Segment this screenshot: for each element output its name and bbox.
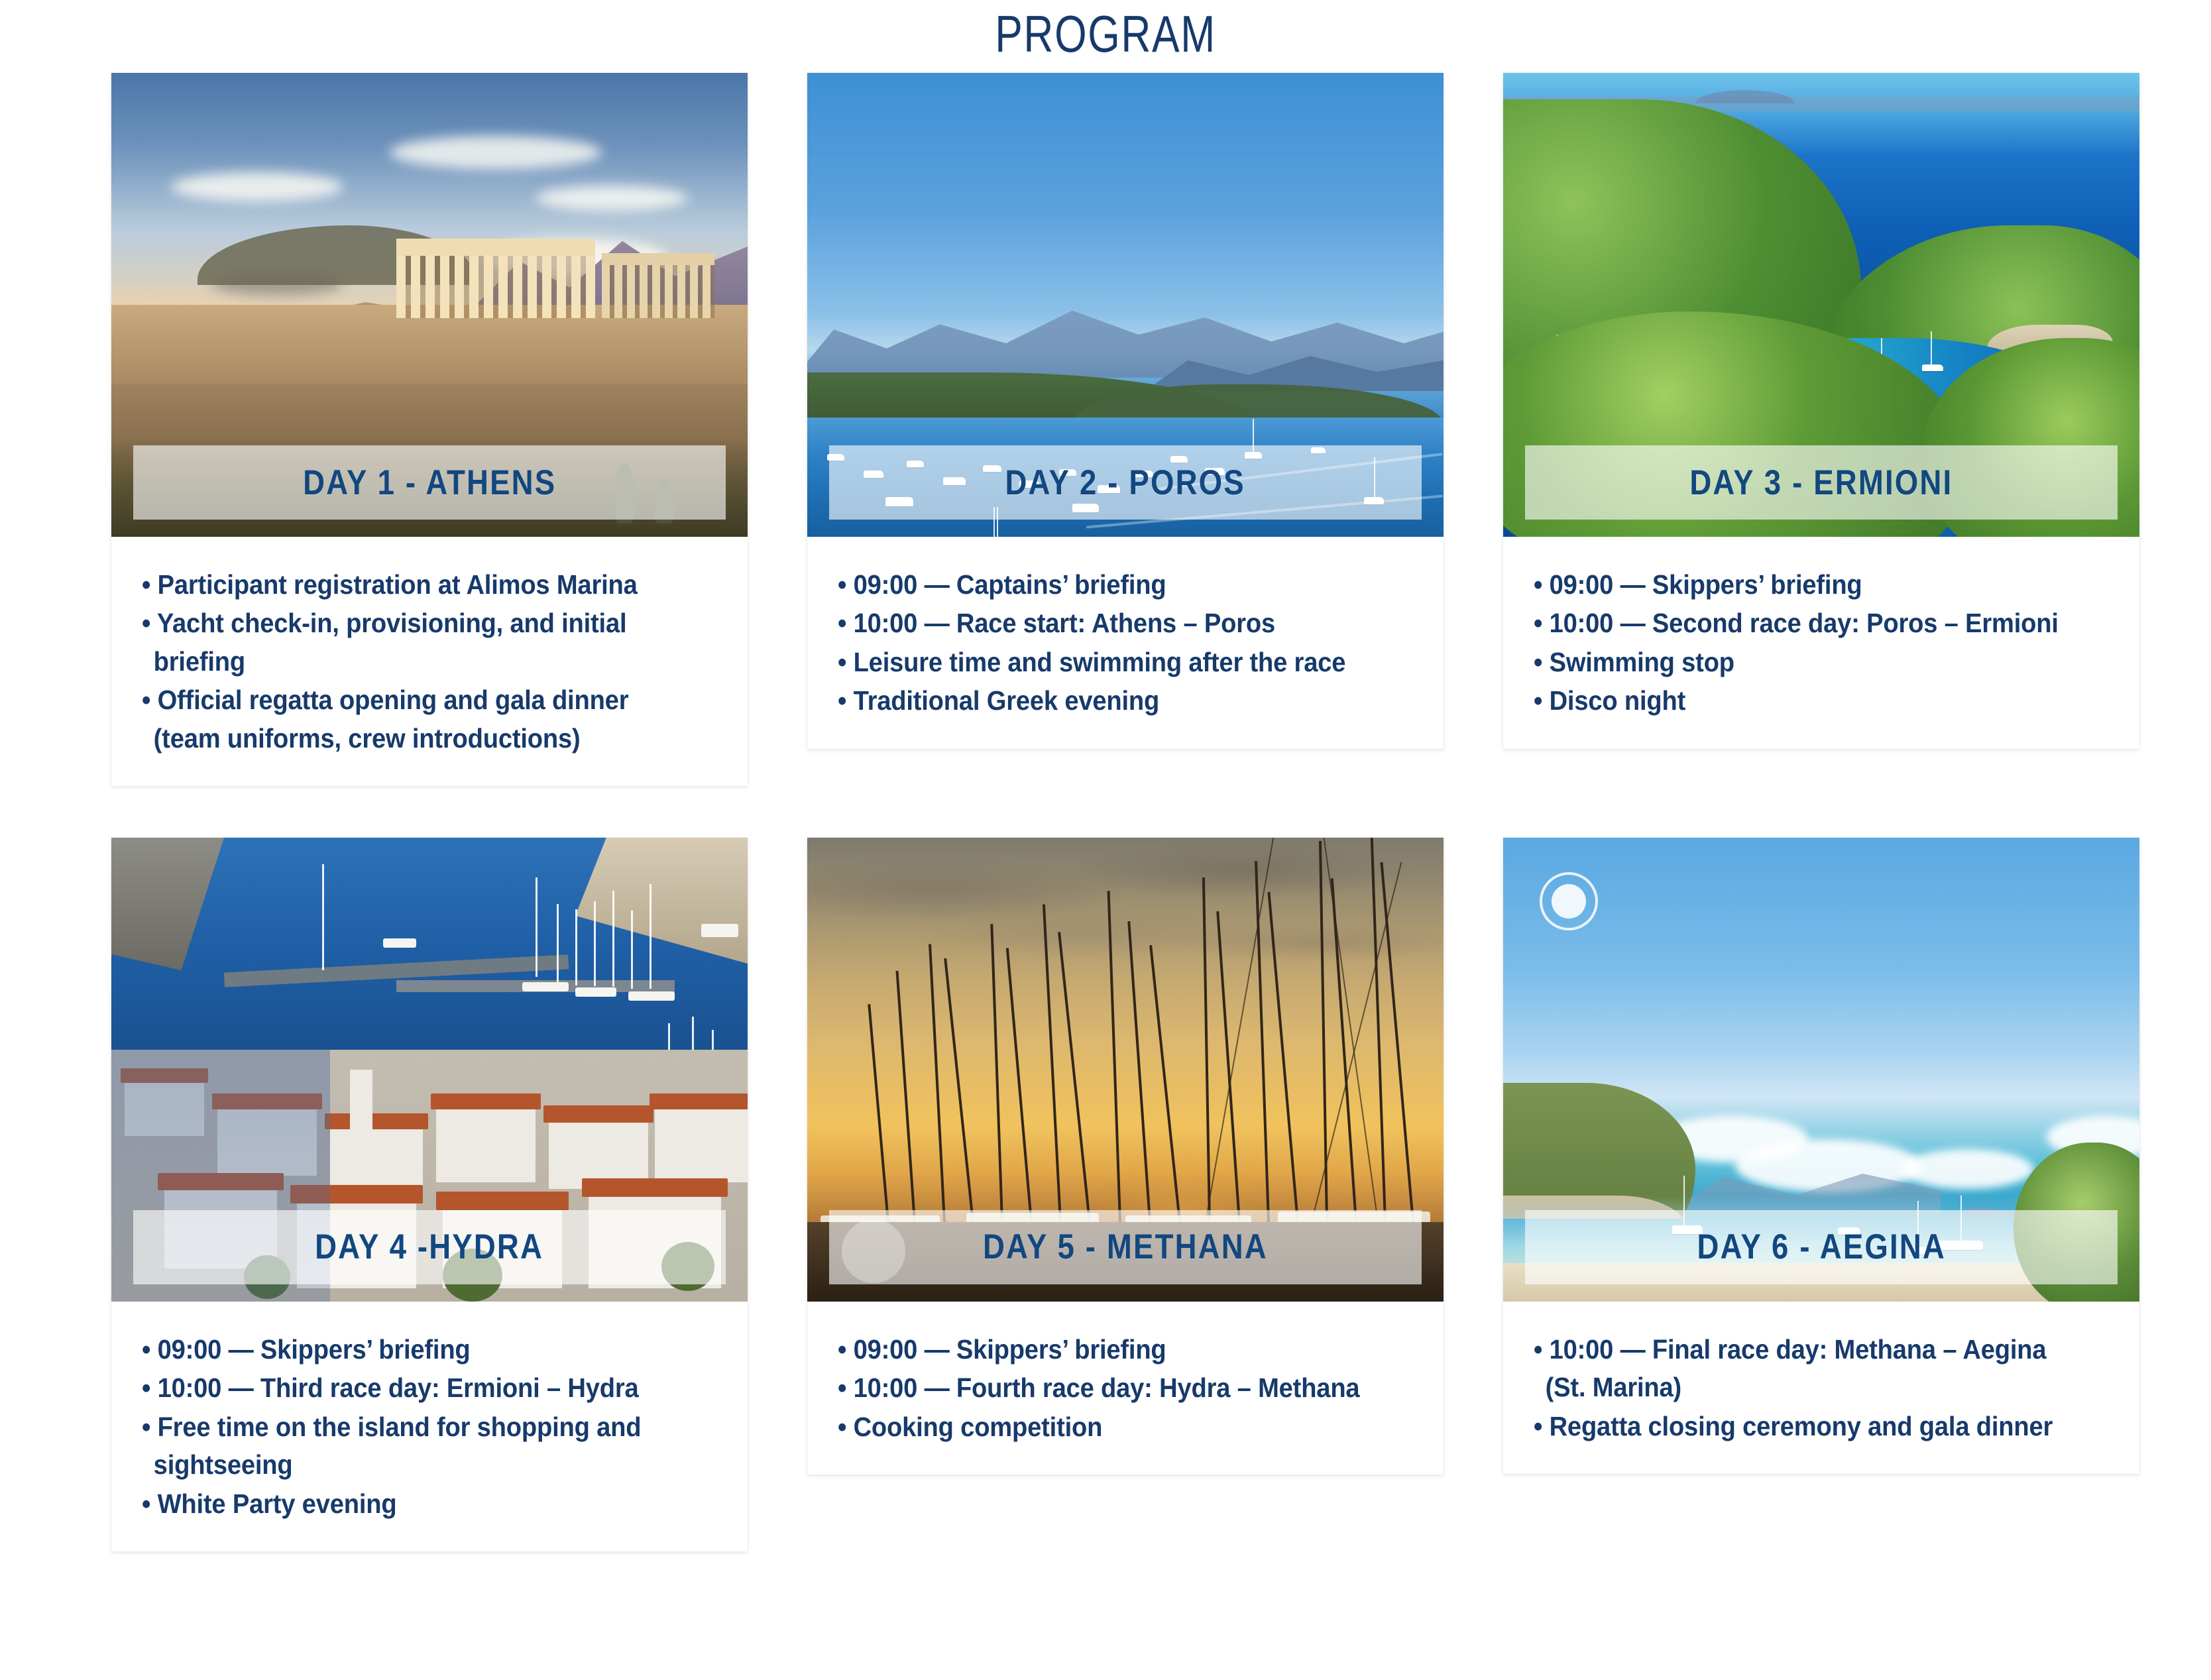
bullet-list-3: • 09:00 — Skippers’ briefing • 10:00 — S… bbox=[1534, 566, 2109, 720]
mast-line bbox=[536, 877, 538, 977]
page-title: PROGRAM bbox=[221, 0, 1990, 60]
card-body-3: • 09:00 — Skippers’ briefing • 10:00 — S… bbox=[1503, 537, 2139, 749]
roof-shape bbox=[582, 1178, 728, 1197]
clocktower-shape bbox=[350, 1070, 372, 1136]
mast-line bbox=[575, 909, 577, 985]
bullet-list-1: • Participant registration at Alimos Mar… bbox=[142, 566, 717, 757]
mountain-range bbox=[807, 292, 1444, 378]
day-label-band-6: DAY 6 - AEGINA bbox=[1525, 1210, 2118, 1284]
mast-line bbox=[1931, 331, 1932, 366]
card-body-1: • Participant registration at Alimos Mar… bbox=[111, 537, 748, 786]
program-grid: DAY 1 - ATHENS • Participant registratio… bbox=[111, 73, 2139, 1551]
card-body-4: • 09:00 — Skippers’ briefing • 10:00 — T… bbox=[111, 1302, 748, 1551]
roof-shape bbox=[650, 1093, 748, 1109]
parthenon-shape bbox=[396, 239, 595, 318]
day-label-1: DAY 1 - ATHENS bbox=[303, 463, 556, 503]
card-body-2: • 09:00 — Captains’ briefing • 10:00 — R… bbox=[807, 537, 1444, 749]
roof-shape bbox=[436, 1192, 569, 1210]
photo-athens: DAY 1 - ATHENS bbox=[111, 73, 748, 537]
roof-shape bbox=[431, 1093, 541, 1109]
mast-line bbox=[322, 864, 324, 970]
day-card-3[interactable]: DAY 3 - ERMIONI • 09:00 — Skippers’ brie… bbox=[1503, 73, 2139, 749]
mast-line bbox=[594, 901, 596, 986]
list-item: • 10:00 — Final race day: Methana – Aegi… bbox=[1534, 1331, 2069, 1407]
building-wall bbox=[436, 1103, 536, 1182]
day-label-band-4: DAY 4 -HYDRA bbox=[133, 1210, 726, 1284]
list-item: • 10:00 — Fourth race day: Hydra – Metha… bbox=[838, 1369, 1373, 1407]
photo-methana: DAY 5 - METHANA bbox=[807, 838, 1444, 1302]
day-label-band-1: DAY 1 - ATHENS bbox=[133, 445, 726, 520]
cloud-shape bbox=[390, 136, 602, 169]
bullet-list-6: • 10:00 — Final race day: Methana – Aegi… bbox=[1534, 1331, 2109, 1445]
sailboat-shape bbox=[1922, 364, 1943, 371]
list-item: • 09:00 — Skippers’ briefing bbox=[838, 1331, 1373, 1369]
cloud-shape bbox=[171, 172, 343, 201]
list-item: • 10:00 — Third race day: Ermioni – Hydr… bbox=[142, 1369, 677, 1407]
mast-line bbox=[612, 891, 614, 987]
day-card-2[interactable]: DAY 2 - POROS • 09:00 — Captains’ briefi… bbox=[807, 73, 1444, 749]
card-body-5: • 09:00 — Skippers’ briefing • 10:00 — F… bbox=[807, 1302, 1444, 1475]
temple-shape bbox=[602, 253, 714, 318]
list-item: • 09:00 — Skippers’ briefing bbox=[1534, 566, 2069, 604]
list-item: • Disco night bbox=[1534, 682, 2069, 720]
day-label-5: DAY 5 - METHANA bbox=[983, 1227, 1268, 1267]
boat-shape bbox=[575, 987, 616, 997]
roof-shape bbox=[325, 1113, 428, 1129]
mast-line bbox=[631, 911, 633, 989]
day-label-3: DAY 3 - ERMIONI bbox=[1690, 463, 1953, 503]
day-label-band-3: DAY 3 - ERMIONI bbox=[1525, 445, 2118, 520]
bullet-list-4: • 09:00 — Skippers’ briefing • 10:00 — T… bbox=[142, 1331, 717, 1523]
mast-line bbox=[650, 884, 652, 989]
day-card-6[interactable]: DAY 6 - AEGINA • 10:00 — Final race day:… bbox=[1503, 838, 2139, 1474]
day-label-2: DAY 2 - POROS bbox=[1005, 463, 1245, 503]
list-item: • Yacht check-in, provisioning, and init… bbox=[142, 604, 677, 681]
building-wall bbox=[655, 1103, 748, 1182]
card-body-6: • 10:00 — Final race day: Methana – Aegi… bbox=[1503, 1302, 2139, 1474]
list-item: • 10:00 — Race start: Athens – Poros bbox=[838, 604, 1373, 642]
boat-shape bbox=[383, 938, 416, 948]
list-item: • Official regatta opening and gala dinn… bbox=[142, 681, 677, 757]
mast-line bbox=[557, 904, 559, 983]
photo-poros: DAY 2 - POROS bbox=[807, 73, 1444, 537]
cloud-shape bbox=[536, 186, 688, 211]
cloud-shape bbox=[1901, 1149, 2033, 1189]
day-card-1[interactable]: DAY 1 - ATHENS • Participant registratio… bbox=[111, 73, 748, 786]
list-item: • 10:00 — Second race day: Poros – Ermio… bbox=[1534, 604, 2069, 642]
list-item: • White Party evening bbox=[142, 1485, 677, 1523]
roof-shape bbox=[543, 1105, 653, 1123]
boat-shape bbox=[522, 982, 569, 991]
day-card-4[interactable]: DAY 4 -HYDRA • 09:00 — Skippers’ briefin… bbox=[111, 838, 748, 1551]
day-label-band-5: DAY 5 - METHANA bbox=[829, 1210, 1422, 1284]
list-item: • 09:00 — Skippers’ briefing bbox=[142, 1331, 677, 1369]
watermark-logo-icon bbox=[1540, 872, 1598, 930]
photo-hydra: DAY 4 -HYDRA bbox=[111, 838, 748, 1302]
day-label-4: DAY 4 -HYDRA bbox=[315, 1227, 544, 1267]
list-item: • Regatta closing ceremony and gala dinn… bbox=[1534, 1408, 2069, 1445]
list-item: • Cooking competition bbox=[838, 1408, 1373, 1446]
list-item: • Swimming stop bbox=[1534, 644, 2069, 681]
list-item: • Traditional Greek evening bbox=[838, 682, 1373, 720]
list-item: • Free time on the island for shopping a… bbox=[142, 1408, 677, 1484]
list-item: • 09:00 — Captains’ briefing bbox=[838, 566, 1373, 604]
day-label-6: DAY 6 - AEGINA bbox=[1697, 1227, 1945, 1267]
photo-aegina: DAY 6 - AEGINA bbox=[1503, 838, 2139, 1302]
distant-island bbox=[1695, 90, 1795, 103]
list-item: • Participant registration at Alimos Mar… bbox=[142, 566, 677, 604]
list-item: • Leisure time and swimming after the ra… bbox=[838, 644, 1373, 681]
photo-ermioni: DAY 3 - ERMIONI bbox=[1503, 73, 2139, 537]
building-wall bbox=[330, 1123, 423, 1189]
boat-shape bbox=[628, 991, 675, 1001]
day-label-band-2: DAY 2 - POROS bbox=[829, 445, 1422, 520]
bullet-list-5: • 09:00 — Skippers’ briefing • 10:00 — F… bbox=[838, 1331, 1413, 1446]
yacht-shape bbox=[701, 924, 738, 937]
day-card-5[interactable]: DAY 5 - METHANA • 09:00 — Skippers’ brie… bbox=[807, 838, 1444, 1475]
bullet-list-2: • 09:00 — Captains’ briefing • 10:00 — R… bbox=[838, 566, 1413, 720]
